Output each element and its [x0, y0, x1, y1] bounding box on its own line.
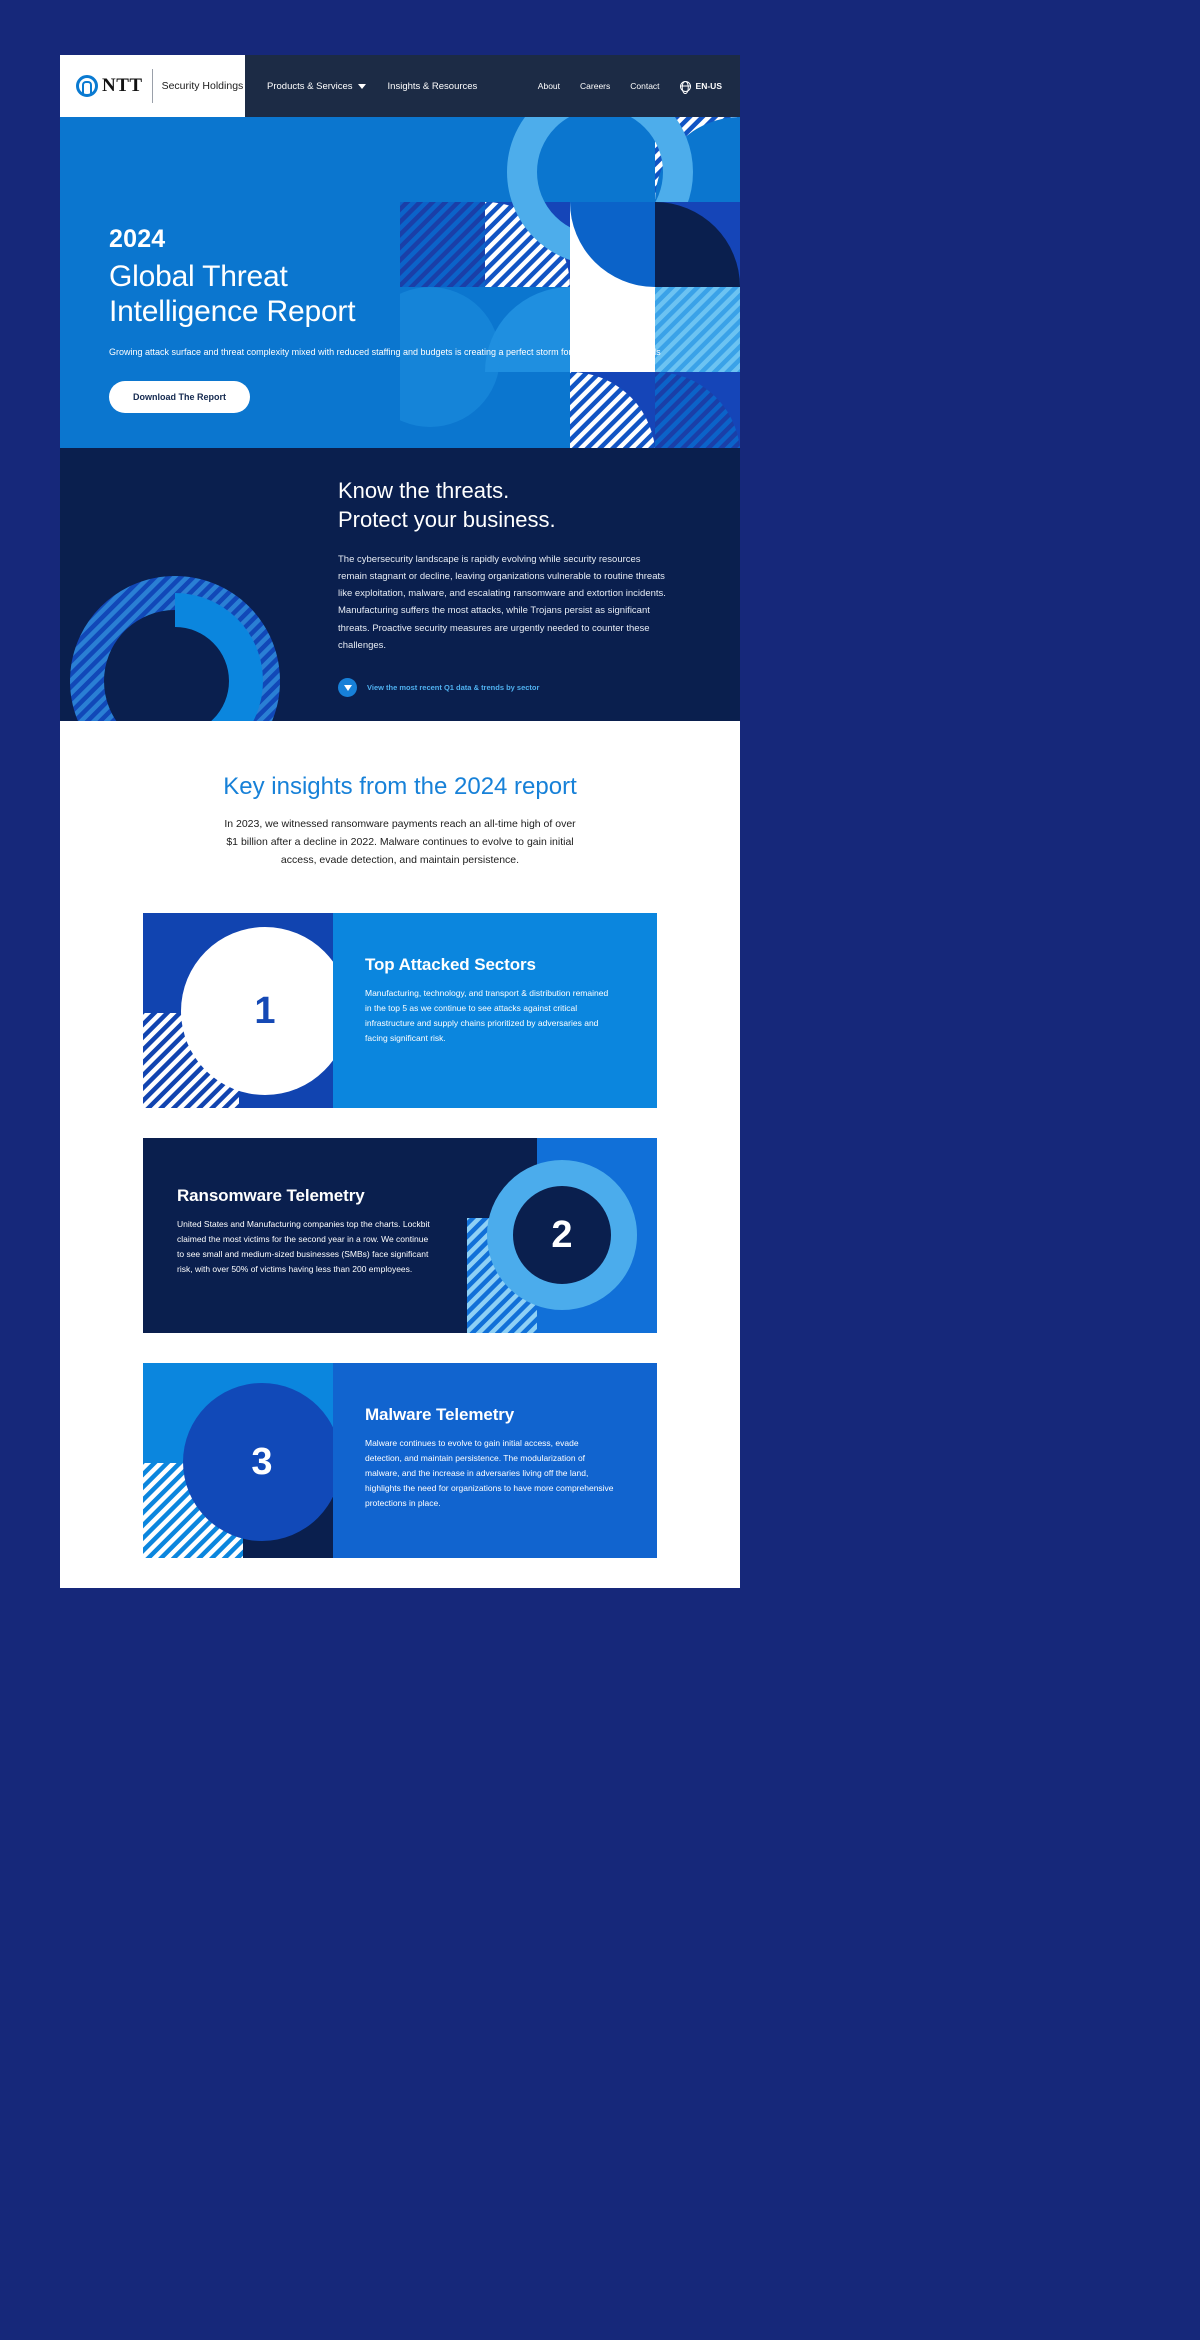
card-content: Malware Telemetry Malware continues to e… [333, 1363, 657, 1558]
insights-lead: In 2023, we witnessed ransomware payment… [220, 815, 580, 869]
hero-year: 2024 [109, 225, 661, 254]
overview-title-line2: Protect your business. [338, 505, 668, 534]
locale-label: EN-US [696, 81, 722, 91]
locale-selector[interactable]: EN-US [680, 81, 722, 92]
site-header: NTT Security Holdings Products & Service… [60, 55, 740, 117]
insight-card[interactable]: Ransomware Telemetry United States and M… [143, 1138, 657, 1333]
card-visual: 3 [143, 1363, 333, 1558]
hero-subtitle: Growing attack surface and threat comple… [109, 346, 661, 359]
card-text: Manufacturing, technology, and transport… [365, 986, 617, 1046]
brand-logo[interactable]: NTT Security Holdings [60, 55, 245, 117]
overview-copy: Know the threats. Protect your business.… [338, 476, 668, 697]
ntt-ring-icon [76, 75, 98, 97]
arrow-glyph [344, 685, 352, 691]
download-arrow-icon [338, 678, 357, 697]
nav-item-contact[interactable]: Contact [630, 81, 659, 91]
card-heading: Top Attacked Sectors [365, 955, 617, 975]
nav-item-insights-resources[interactable]: Insights & Resources [388, 81, 478, 92]
card-content: Ransomware Telemetry United States and M… [143, 1138, 467, 1333]
overview-title-line1: Know the threats. [338, 476, 668, 505]
download-report-button[interactable]: Download The Report [109, 381, 250, 413]
view-q1-data-label: View the most recent Q1 data & trends by… [367, 683, 539, 692]
card-heading: Ransomware Telemetry [177, 1186, 433, 1206]
card-visual: 2 [467, 1138, 657, 1333]
insight-card[interactable]: 1 Top Attacked Sectors Manufacturing, te… [143, 913, 657, 1108]
card-content: Top Attacked Sectors Manufacturing, tech… [333, 913, 657, 1108]
card-visual: 1 [143, 913, 333, 1108]
hero-title: Global Threat Intelligence Report [109, 259, 661, 330]
card-number-badge: 3 [183, 1383, 333, 1541]
hero-copy: 2024 Global Threat Intelligence Report G… [109, 225, 661, 413]
utility-nav: About Careers Contact EN-US [538, 55, 740, 117]
chevron-down-icon [358, 84, 366, 89]
hero-title-line1: Global Threat [109, 259, 661, 294]
insights-section: Key insights from the 2024 report In 202… [60, 721, 740, 1558]
insight-card[interactable]: 3 Malware Telemetry Malware continues to… [143, 1363, 657, 1558]
globe-icon [680, 81, 691, 92]
insights-title: Key insights from the 2024 report [60, 773, 740, 801]
hero-title-line2: Intelligence Report [109, 294, 661, 329]
logo-divider [152, 69, 153, 103]
overview-section: Know the threats. Protect your business.… [60, 448, 740, 721]
primary-nav: Products & Services Insights & Resources [245, 55, 477, 117]
ntt-logo-icon: NTT [76, 75, 143, 97]
overview-decorative-pattern [60, 561, 290, 721]
nav-item-products-services[interactable]: Products & Services [267, 81, 366, 92]
card-text: Malware continues to evolve to gain init… [365, 1436, 617, 1510]
nav-label: Products & Services [267, 81, 353, 92]
view-q1-data-link[interactable]: View the most recent Q1 data & trends by… [338, 678, 668, 697]
nav-item-about[interactable]: About [538, 81, 560, 91]
page-root: NTT Security Holdings Products & Service… [0, 0, 1200, 2340]
nav-item-careers[interactable]: Careers [580, 81, 610, 91]
card-text: United States and Manufacturing companie… [177, 1217, 433, 1277]
hero-section: 2024 Global Threat Intelligence Report G… [60, 117, 740, 448]
card-heading: Malware Telemetry [365, 1405, 617, 1425]
site-frame: NTT Security Holdings Products & Service… [60, 55, 740, 1588]
card-number-badge: 2 [487, 1160, 637, 1310]
insight-cards: 1 Top Attacked Sectors Manufacturing, te… [60, 869, 740, 1558]
overview-body: The cybersecurity landscape is rapidly e… [338, 551, 668, 655]
nav-label: Insights & Resources [388, 81, 478, 92]
brand-logo-text: NTT [102, 75, 143, 97]
overview-title: Know the threats. Protect your business. [338, 476, 668, 535]
brand-logo-subtitle: Security Holdings [162, 80, 244, 92]
